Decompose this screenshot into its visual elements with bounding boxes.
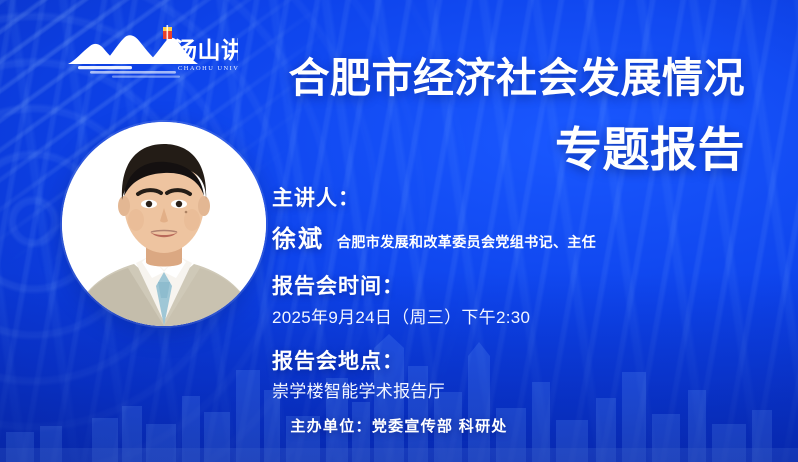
spacer <box>272 329 742 349</box>
speaker-name: 徐斌 <box>272 219 324 254</box>
poster-canvas: 汤山讲坛 CHAOHU UNIVERSITY <box>0 0 798 462</box>
title-line-2: 专题报告 <box>225 126 745 173</box>
spacer <box>272 254 742 274</box>
speaker-label: 主讲人： <box>272 186 742 212</box>
poster-title: 合肥市经济社会发展情况 专题报告 <box>225 58 745 173</box>
title-line-1: 合肥市经济社会发展情况 <box>225 58 745 99</box>
time-label: 报告会时间： <box>272 274 742 300</box>
place-label: 报告会地点： <box>272 349 742 375</box>
event-details: 主讲人： 徐斌 合肥市发展和改革委员会党组书记、主任 报告会时间： 2025年9… <box>272 186 742 403</box>
place-value: 崇学楼智能学术报告厅 <box>272 381 742 403</box>
time-value: 2025年9月24日（周三）下午2:30 <box>272 307 742 329</box>
speaker-position: 合肥市发展和改革委员会党组书记、主任 <box>337 232 596 252</box>
chaohu-university-logo: 汤山讲坛 CHAOHU UNIVERSITY <box>62 24 238 86</box>
organizer-line: 主办单位：党委宣传部 科研处 <box>0 415 798 436</box>
mountain-logo-icon: 汤山讲坛 CHAOHU UNIVERSITY <box>62 24 238 86</box>
speaker-row: 徐斌 合肥市发展和改革委员会党组书记、主任 <box>272 219 742 254</box>
